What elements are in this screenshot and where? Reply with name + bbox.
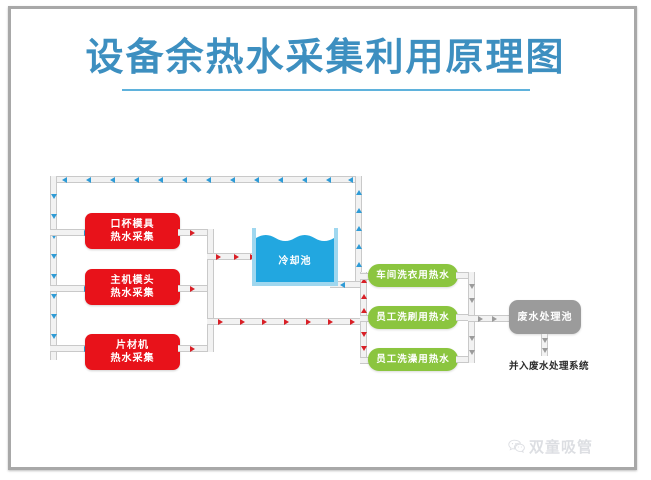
return-arrow-left-icon xyxy=(158,177,163,183)
hot-arrow-right-icon xyxy=(190,230,195,236)
hot-collector-riser-upper xyxy=(207,229,214,292)
wastewater-inlet-pipe xyxy=(468,315,510,322)
source-label-line2: 热水采集 xyxy=(111,287,155,300)
consumer-label: 员工洗刷用热水 xyxy=(376,312,450,324)
hot-arrow-right-icon xyxy=(218,319,223,325)
water-surface-wave-icon xyxy=(256,233,334,242)
source-label-line2: 热水采集 xyxy=(111,231,155,244)
hot-arrow-right-icon xyxy=(262,319,267,325)
consumer-box-workshop-laundry[interactable]: 车间洗衣用热水 xyxy=(368,264,458,287)
wastewater-label: 废水处理池 xyxy=(518,311,573,324)
source-box-main-die-head[interactable]: 主机模头 热水采集 xyxy=(85,269,180,305)
return-arrow-down-icon xyxy=(51,334,57,339)
return-loop-left-pipe xyxy=(50,176,57,360)
return-arrow-left-icon xyxy=(182,177,187,183)
hot-arrow-right-icon xyxy=(234,254,239,260)
consumer-box-staff-washing[interactable]: 员工洗刷用热水 xyxy=(368,306,458,329)
return-arrow-down-icon xyxy=(51,194,57,199)
hot-arrow-right-icon xyxy=(306,319,311,325)
return-arrow-left-icon xyxy=(326,177,331,183)
return-arrow-down-icon xyxy=(51,214,57,219)
return-arrow-up-icon xyxy=(356,208,362,213)
hot-arrow-right-icon xyxy=(328,319,333,325)
return-arrow-up-icon xyxy=(356,226,362,231)
hot-arrow-up-icon xyxy=(361,308,367,313)
hot-arrow-right-icon xyxy=(240,319,245,325)
drain-arrow-down-icon xyxy=(542,348,548,353)
wechat-icon xyxy=(508,439,525,454)
return-arrow-left-icon xyxy=(254,177,259,183)
source-label-line1: 口杯模具 xyxy=(111,218,155,231)
watermark: 双童吸管 xyxy=(508,436,593,457)
return-arrow-left-icon xyxy=(348,177,353,183)
hot-arrow-right-icon xyxy=(190,346,195,352)
source-label-line1: 主机模头 xyxy=(111,274,155,287)
page-title: 设备余热水采集利用原理图 xyxy=(0,34,651,80)
hot-arrow-right-icon xyxy=(284,319,289,325)
return-arrow-down-icon xyxy=(51,254,57,259)
hot-arrow-right-icon xyxy=(190,286,195,292)
wastewater-system-caption: 并入废水处理系统 xyxy=(484,358,614,372)
return-arrow-left-icon xyxy=(340,282,345,288)
return-arrow-left-icon xyxy=(110,177,115,183)
drain-arrow-down-icon xyxy=(469,336,475,341)
return-arrow-up-icon xyxy=(356,190,362,195)
return-arrow-up-icon xyxy=(356,244,362,249)
consumer-box-staff-shower[interactable]: 员工洗澡用热水 xyxy=(368,348,458,371)
title-underline xyxy=(122,89,530,91)
return-arrow-left-icon xyxy=(278,177,283,183)
source-box-sheet-machine[interactable]: 片材机 热水采集 xyxy=(85,334,180,370)
drain-arrow-down-icon xyxy=(469,284,475,289)
return-arrow-up-icon xyxy=(356,262,362,267)
hot-arrow-right-icon xyxy=(350,319,355,325)
watermark-text: 双童吸管 xyxy=(529,436,593,457)
return-arrow-down-icon xyxy=(51,294,57,299)
return-arrow-left-icon xyxy=(134,177,139,183)
consumer-label: 车间洗衣用热水 xyxy=(376,270,450,282)
drain-arrow-down-icon xyxy=(469,350,475,355)
return-arrow-left-icon xyxy=(62,177,67,183)
diagram-canvas: 设备余热水采集利用原理图 口杯模具 热水采集 xyxy=(0,0,651,480)
return-arrow-left-icon xyxy=(206,177,211,183)
consumer-label: 员工洗澡用热水 xyxy=(376,354,450,366)
drain-arrow-down-icon xyxy=(542,338,548,343)
return-arrow-left-icon xyxy=(86,177,91,183)
hot-arrow-up-icon xyxy=(361,294,367,299)
return-arrow-left-icon xyxy=(230,177,235,183)
hot-arrow-down-icon xyxy=(361,346,367,351)
return-arrow-down-icon xyxy=(51,314,57,319)
hot-arrow-right-icon xyxy=(216,254,221,260)
pool-floor xyxy=(252,282,338,286)
return-arrow-down-icon xyxy=(51,274,57,279)
cooling-pool-label: 冷却池 xyxy=(252,252,338,267)
wastewater-treatment-box[interactable]: 废水处理池 xyxy=(509,300,581,334)
drain-arrow-right-icon xyxy=(492,316,497,322)
source-box-cup-mold[interactable]: 口杯模具 热水采集 xyxy=(85,213,180,249)
drain-arrow-right-icon xyxy=(478,316,483,322)
drain-arrow-down-icon xyxy=(469,298,475,303)
hot-arrow-down-icon xyxy=(361,332,367,337)
source-label-line1: 片材机 xyxy=(111,339,155,352)
return-arrow-left-icon xyxy=(302,177,307,183)
source-label-line2: 热水采集 xyxy=(111,352,155,365)
